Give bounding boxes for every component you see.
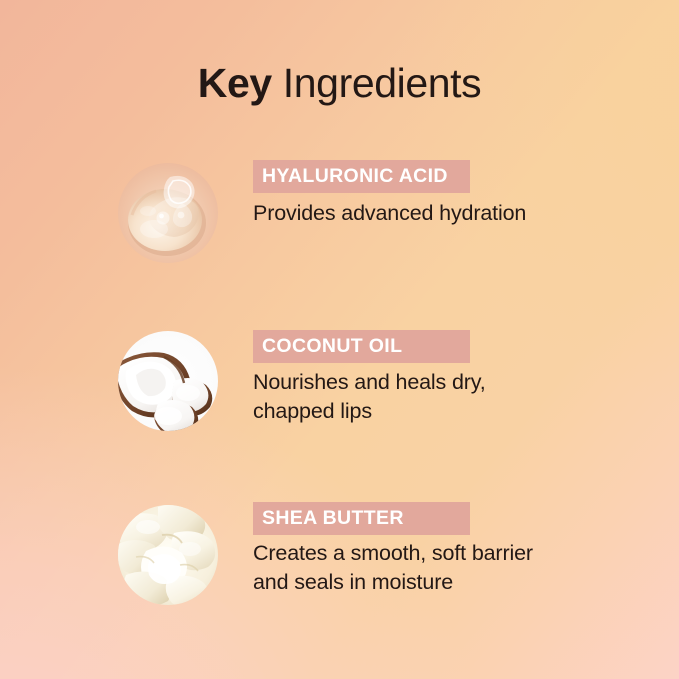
ingredient-label-shea-butter: SHEA BUTTER <box>253 502 470 535</box>
ingredient-text-column: COCONUT OIL Nourishes and heals dry, cha… <box>253 330 653 425</box>
infographic-content: Key Ingredients <box>0 0 679 679</box>
hyaluronic-acid-gel-droplet-photo <box>118 163 218 263</box>
key-ingredients-infographic: Key Ingredients <box>0 0 679 679</box>
ingredient-item-coconut-oil: COCONUT OIL Nourishes and heals dry, cha… <box>0 330 679 450</box>
ingredient-item-hyaluronic-acid: HYALURONIC ACID Provides advanced hydrat… <box>0 160 679 280</box>
shea-butter-chunks-photo <box>118 505 218 605</box>
coconut-oil-coconut-pieces-photo <box>118 331 218 431</box>
ingredient-text-column: HYALURONIC ACID Provides advanced hydrat… <box>253 160 653 228</box>
ingredient-label-hyaluronic-acid: HYALURONIC ACID <box>253 160 470 193</box>
page-title: Key Ingredients <box>0 59 679 107</box>
ingredient-text-column: SHEA BUTTER Creates a smooth, soft barri… <box>253 502 653 596</box>
page-title-light: Ingredients <box>272 60 481 106</box>
page-title-strong: Key <box>198 60 272 106</box>
ingredient-description-hyaluronic-acid: Provides advanced hydration <box>253 199 653 228</box>
ingredient-item-shea-butter: SHEA BUTTER Creates a smooth, soft barri… <box>0 502 679 622</box>
ingredient-label-coconut-oil: COCONUT OIL <box>253 330 470 363</box>
ingredient-description-shea-butter: Creates a smooth, soft barrier and seals… <box>253 539 653 596</box>
ingredient-description-coconut-oil: Nourishes and heals dry, chapped lips <box>253 368 653 425</box>
